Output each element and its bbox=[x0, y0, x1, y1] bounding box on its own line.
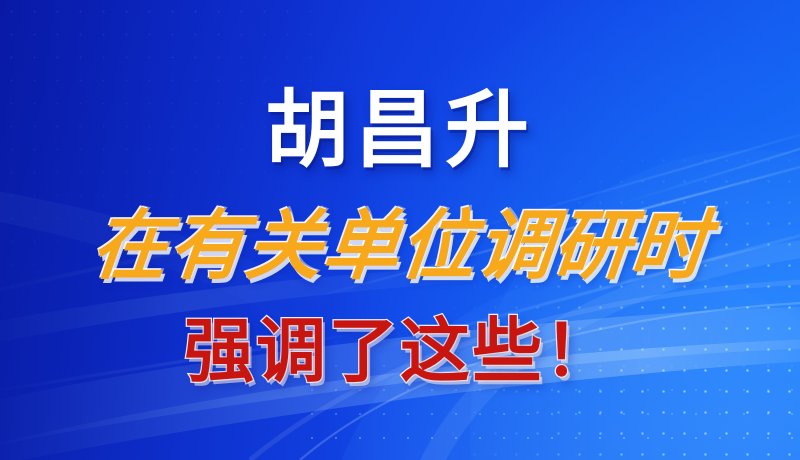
promo-banner: 胡昌升 在有关单位调研时 强调了这些！ bbox=[0, 0, 800, 460]
banner-headline: 强调了这些！ bbox=[0, 316, 800, 386]
banner-content: 胡昌升 在有关单位调研时 强调了这些！ bbox=[0, 0, 800, 460]
banner-subtitle: 在有关单位调研时 bbox=[0, 206, 800, 288]
banner-person-name: 胡昌升 bbox=[0, 88, 800, 172]
